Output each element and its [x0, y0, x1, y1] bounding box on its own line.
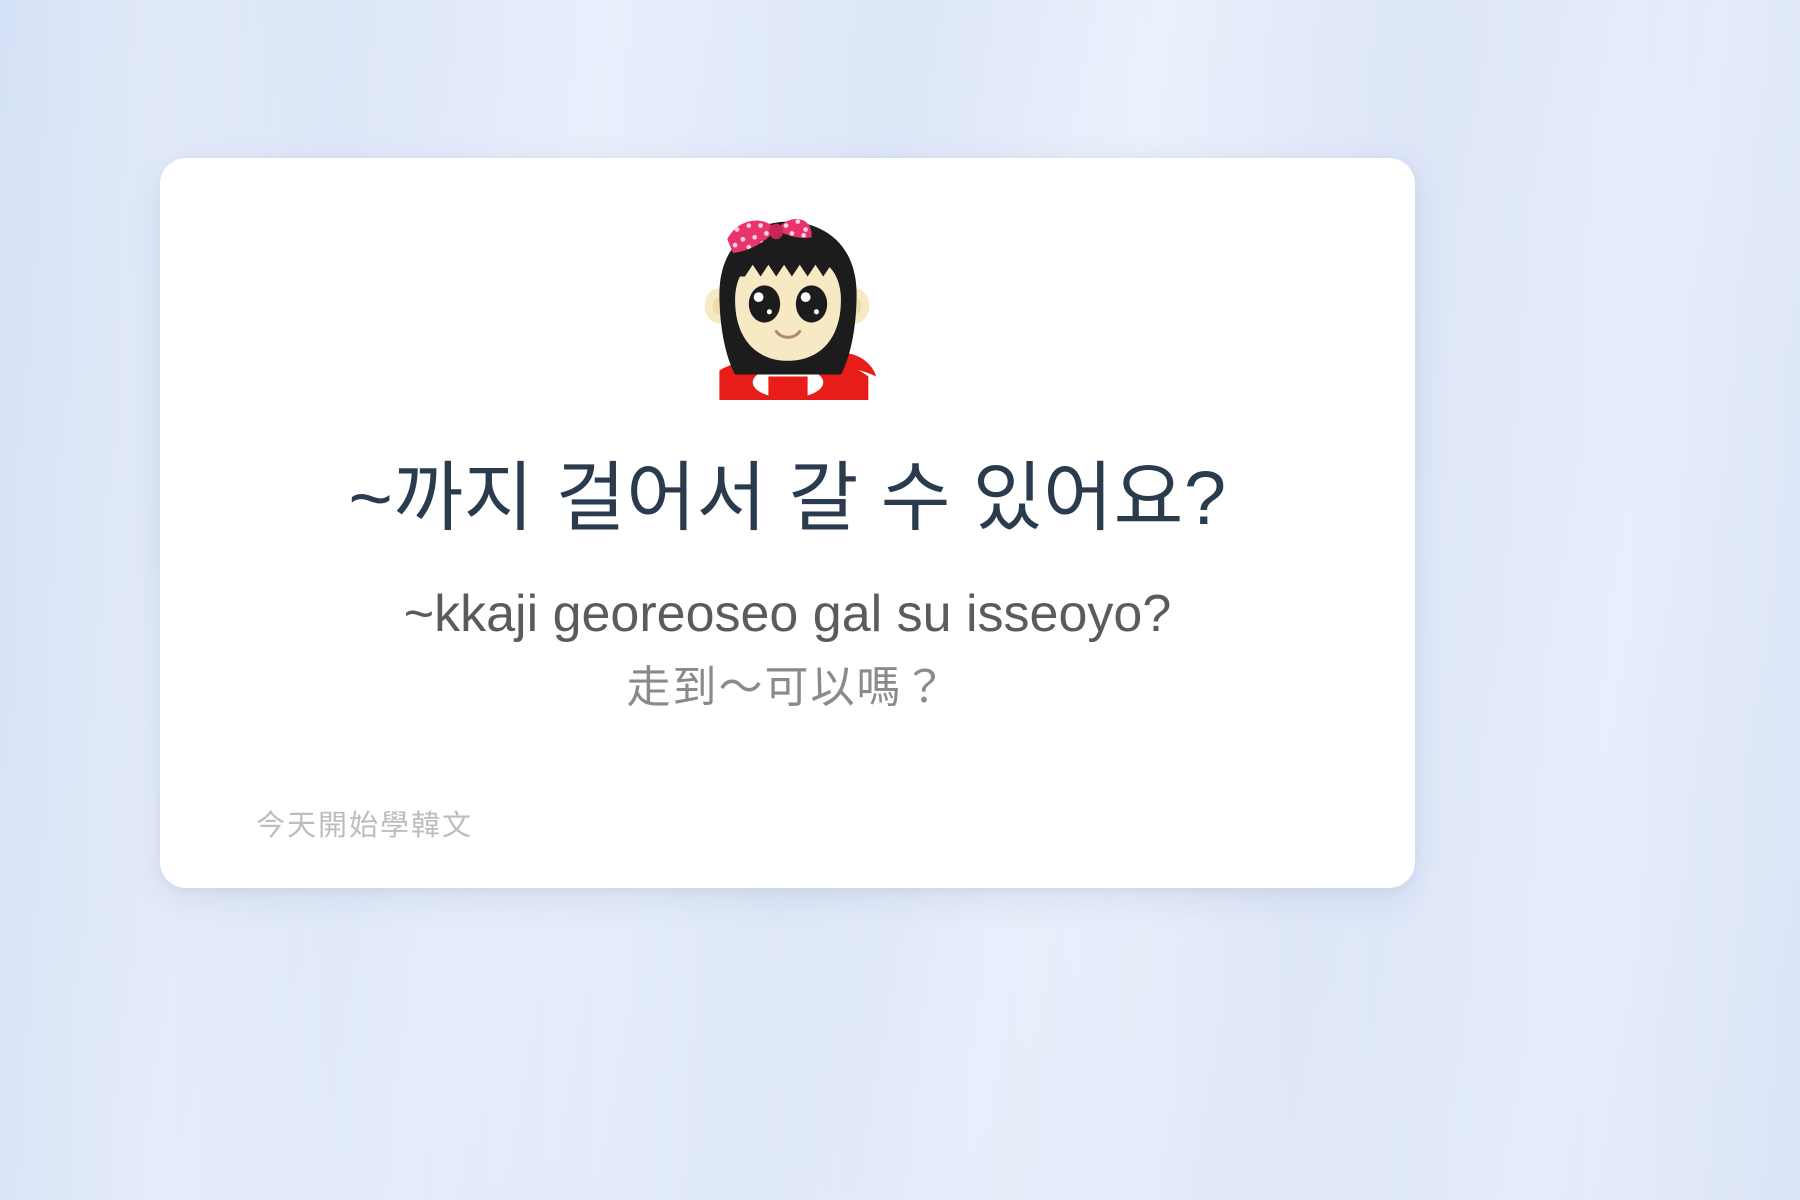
romanization-text: ~kkaji georeoseo gal su isseoyo? [160, 583, 1415, 645]
korean-headline: ~까지 걸어서 갈 수 있어요? [160, 456, 1415, 541]
card-footer-label: 今天開始學韓文 [256, 802, 473, 844]
girl-avatar-icon [690, 204, 886, 400]
phrase-card: ~까지 걸어서 갈 수 있어요? ~kkaji georeoseo gal su… [160, 158, 1415, 888]
avatar-eye-left [748, 285, 779, 322]
chinese-translation: 走到～可以嗎？ [160, 660, 1415, 715]
phrase-text-block: ~까지 걸어서 갈 수 있어요? ~kkaji georeoseo gal su… [160, 456, 1415, 715]
avatar-eye-right [795, 285, 826, 322]
page-background: ~까지 걸어서 갈 수 있어요? ~kkaji georeoseo gal su… [0, 0, 1800, 1200]
